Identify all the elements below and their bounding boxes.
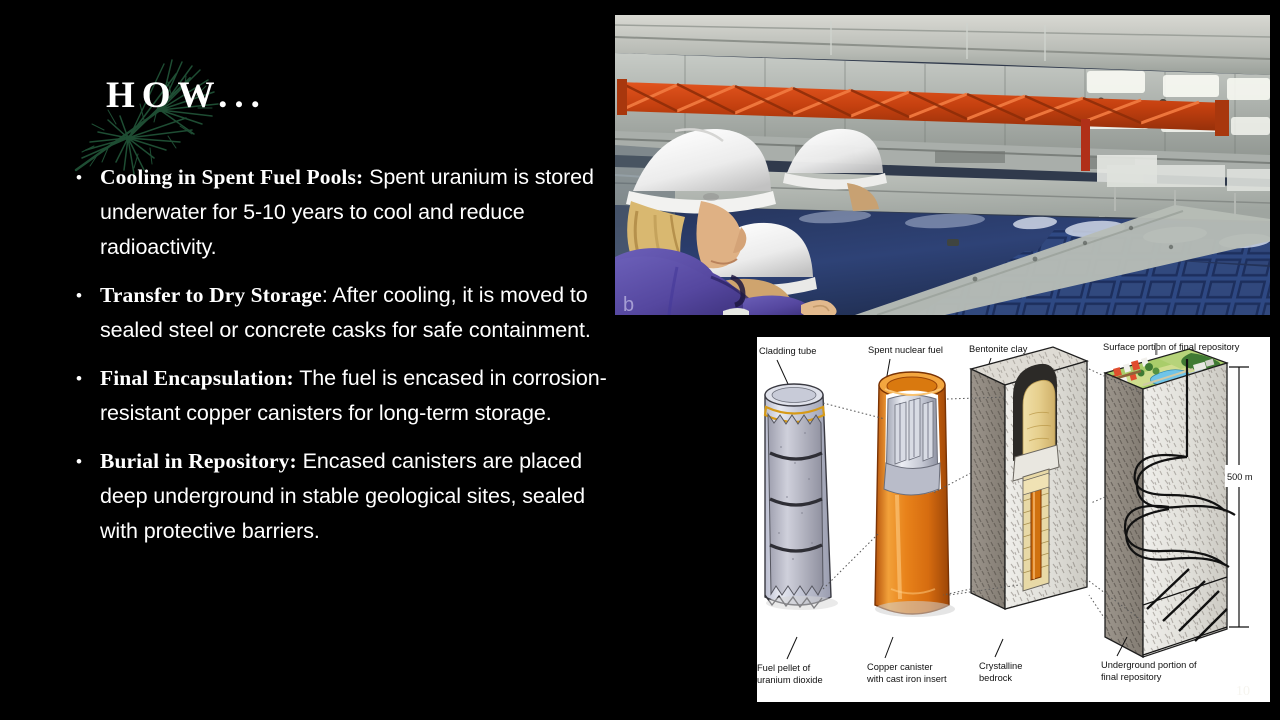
svg-text:final repository: final repository xyxy=(1101,672,1162,682)
diagram-label-cladding-tube: Cladding tube xyxy=(759,346,816,356)
svg-text:Fuel pellet of: Fuel pellet of xyxy=(757,663,811,673)
bullet-marker: • xyxy=(70,278,100,313)
bullet-item-burial: • Burial in Repository: Encased canister… xyxy=(70,444,610,549)
diagram-label-spent-fuel: Spent nuclear fuel xyxy=(868,345,943,355)
bullet-item-dry-storage: • Transfer to Dry Storage: After cooling… xyxy=(70,278,610,348)
final-repository-diagram: Cladding tube Spent nuclear fuel Bentoni… xyxy=(757,337,1270,702)
diagram-label-bentonite: Bentonite clay xyxy=(969,344,1028,354)
diagram-copper-canister xyxy=(875,372,955,617)
svg-text:with cast iron insert: with cast iron insert xyxy=(866,674,947,684)
diagram-final-repository-block xyxy=(1105,343,1235,657)
slide-number: 10 xyxy=(1228,684,1258,700)
bullet-text: Transfer to Dry Storage: After cooling, … xyxy=(100,278,610,348)
bullet-lead-label: Burial in Repository: xyxy=(100,449,297,473)
bullet-lead-label: Final Encapsulation: xyxy=(100,366,294,390)
diagram-label-surface-repo: Surface portion of final repository xyxy=(1103,342,1240,352)
bullet-marker: • xyxy=(70,444,100,479)
spent-fuel-pool-photo: b xyxy=(615,15,1270,315)
bullet-lead-label: Transfer to Dry Storage xyxy=(100,283,322,307)
bullet-text: Final Encapsulation: The fuel is encased… xyxy=(100,361,610,431)
diagram-crystalline-bedrock xyxy=(971,347,1087,609)
svg-text:bedrock: bedrock xyxy=(979,673,1012,683)
slide-root: HOW... • Cooling in Spent Fuel Pools: Sp… xyxy=(0,0,1280,720)
svg-text:Crystalline: Crystalline xyxy=(979,661,1022,671)
slide-text-column: HOW... • Cooling in Spent Fuel Pools: Sp… xyxy=(0,0,615,720)
bullet-item-encapsulation: • Final Encapsulation: The fuel is encas… xyxy=(70,361,610,431)
bullet-text: Burial in Repository: Encased canisters … xyxy=(100,444,610,549)
bullet-marker: • xyxy=(70,160,100,195)
svg-text:Underground portion of: Underground portion of xyxy=(1101,660,1197,670)
bullet-list: • Cooling in Spent Fuel Pools: Spent ura… xyxy=(70,160,610,562)
svg-text:uranium dioxide: uranium dioxide xyxy=(757,675,823,685)
bullet-text: Cooling in Spent Fuel Pools: Spent urani… xyxy=(100,160,610,265)
page-title: HOW... xyxy=(106,74,267,118)
bullet-lead-label: Cooling in Spent Fuel Pools: xyxy=(100,165,363,189)
diagram-cladding-tube xyxy=(765,384,831,608)
svg-text:b: b xyxy=(623,294,634,315)
bullet-marker: • xyxy=(70,361,100,396)
diagram-label-depth: 500 m xyxy=(1227,472,1253,482)
svg-text:Copper canister: Copper canister xyxy=(867,662,933,672)
bullet-item-cooling: • Cooling in Spent Fuel Pools: Spent ura… xyxy=(70,160,610,265)
